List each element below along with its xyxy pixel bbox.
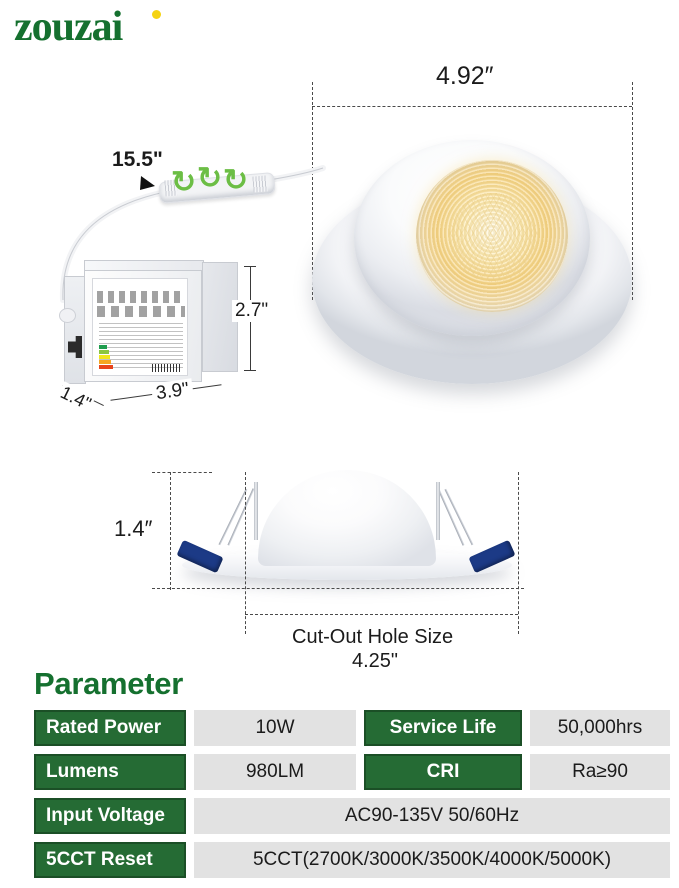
brand-logo-text: zouzai: [14, 4, 122, 50]
cell-lumens-value: 980LM: [194, 754, 356, 790]
cutout-dimension-line: [245, 614, 518, 615]
led-driver-junction-box: [62, 258, 240, 390]
driver-cable-grommet: [59, 308, 76, 323]
energy-rating-chart-icon: [99, 345, 113, 371]
table-row: Lumens 980LM CRI Ra≥90: [34, 754, 670, 790]
cutout-extension-right: [518, 472, 519, 634]
table-row: 5CCT Reset 5CCT(2700K/3000K/3500K/4000K/…: [34, 842, 670, 878]
driver-spec-label: [92, 278, 188, 376]
side-height-extension: [170, 472, 171, 590]
label-cert-marks: [97, 306, 185, 317]
cell-input-voltage-label: Input Voltage: [34, 798, 186, 834]
table-row: Input Voltage AC90-135V 50/60Hz: [34, 798, 670, 834]
cell-input-voltage-value: AC90-135V 50/60Hz: [194, 798, 670, 834]
driver-height-cap-bottom: [244, 370, 256, 371]
cell-lumens-label: Lumens: [34, 754, 186, 790]
rotate-arrow-3-icon: ↻: [223, 166, 248, 196]
cutout-caption: Cut-Out Hole Size: [292, 626, 453, 649]
product-spec-sheet: zouzai 4.92″ 15.5" ↻ ↻ ↻: [0, 0, 679, 888]
parameter-table: Rated Power 10W Service Life 50,000hrs L…: [34, 710, 670, 886]
spring-bracket-left: [254, 482, 258, 540]
fixture-gimbal-housing: [354, 140, 590, 336]
cell-5cct-reset-label: 5CCT Reset: [34, 842, 186, 878]
rotate-arrow-2-icon: ↻: [197, 164, 222, 194]
cell-cri-value: Ra≥90: [530, 754, 670, 790]
driver-height-cap-top: [244, 266, 256, 267]
side-height-cap-bottom: [152, 588, 524, 589]
parameter-section-title: Parameter: [34, 666, 183, 702]
cell-service-life-value: 50,000hrs: [530, 710, 670, 746]
driver-height-label: 2.7": [232, 300, 271, 322]
driver-width-label: 3.9": [151, 378, 195, 406]
downlight-side-view: [170, 470, 520, 590]
led-lens: [416, 160, 568, 312]
brand-logo: zouzai: [14, 6, 122, 48]
width-dimension-label: 4.92″: [436, 62, 494, 91]
connector-grip-right: [252, 175, 267, 192]
downlight-fixture-top-view: [312, 140, 632, 390]
rotate-arrow-1-icon: ↻: [171, 168, 196, 198]
side-height-label: 1.4″: [114, 516, 152, 542]
lens-mesh: [449, 193, 537, 281]
label-symbol-row: [97, 291, 185, 303]
cell-5cct-reset-value: 5CCT(2700K/3000K/3500K/4000K/5000K): [194, 842, 670, 878]
cell-rated-power-value: 10W: [194, 710, 356, 746]
cell-service-life-label: Service Life: [364, 710, 522, 746]
side-height-cap-top: [152, 472, 212, 473]
spring-bracket-right: [436, 482, 440, 540]
cutout-extension-left: [245, 472, 246, 634]
cutout-value: 4.25": [352, 650, 398, 673]
fixture-dome: [258, 470, 436, 566]
logo-yellow-dot-icon: [152, 10, 161, 19]
cell-cri-label: CRI: [364, 754, 522, 790]
driver-box-left-face: [64, 276, 86, 384]
label-barcode-icon: [152, 364, 182, 372]
cell-rated-power-label: Rated Power: [34, 710, 186, 746]
width-extension-right: [632, 82, 633, 300]
table-row: Rated Power 10W Service Life 50,000hrs: [34, 710, 670, 746]
width-dimension-line: [312, 106, 632, 107]
